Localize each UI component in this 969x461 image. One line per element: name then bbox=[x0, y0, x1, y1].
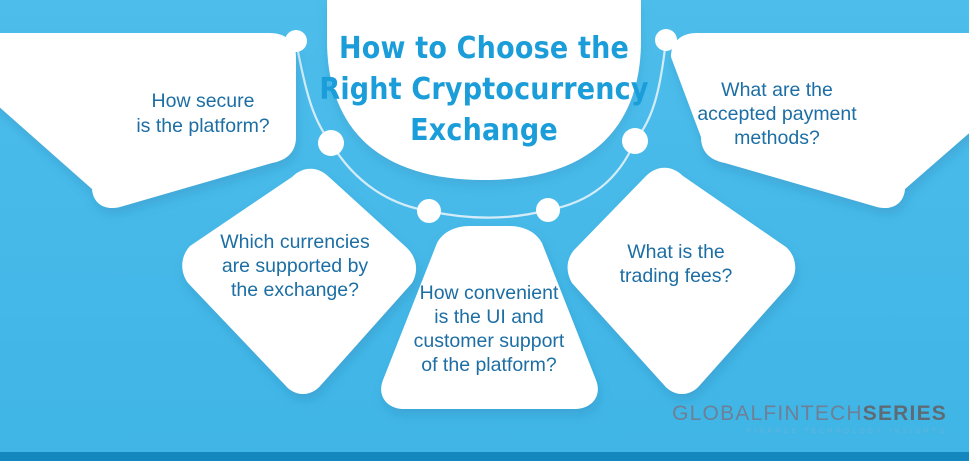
logo-wordmark: GLOBALFINTECHSERIES bbox=[672, 403, 947, 424]
ui-line-1: How convenient bbox=[420, 282, 559, 304]
node-upper-left bbox=[285, 30, 307, 52]
fees-line-2: trading fees? bbox=[620, 265, 733, 287]
ui-line-2: is the UI and bbox=[434, 306, 543, 328]
logo-wordmark-bold: SERIES bbox=[863, 402, 947, 425]
currencies-line-1: Which currencies bbox=[220, 231, 370, 253]
logo-wordmark-light: GLOBALFINTECH bbox=[672, 402, 863, 425]
title-line-2: Right Cryptocurrency bbox=[319, 72, 649, 107]
infographic-artwork: How to Choose the Right Cryptocurrency E… bbox=[0, 0, 969, 461]
ui-line-4: of the platform? bbox=[421, 354, 557, 376]
bottom-accent-bar bbox=[0, 452, 969, 461]
payment-line-1: What are the bbox=[721, 79, 833, 101]
logo-tagline: FINANCE TECHNOLOGY INSIGHTS bbox=[672, 428, 947, 435]
fees-line-1: What is the bbox=[627, 241, 725, 263]
node-lower-right bbox=[536, 198, 560, 222]
payment-line-2: accepted payment bbox=[697, 103, 857, 125]
currencies-line-2: are supported by bbox=[222, 255, 369, 277]
title-line-3: Exchange bbox=[410, 113, 558, 148]
node-lower-left bbox=[417, 199, 441, 223]
node-mid-right bbox=[622, 128, 648, 154]
infographic-canvas: How to Choose the Right Cryptocurrency E… bbox=[0, 0, 969, 461]
node-mid-left bbox=[318, 130, 344, 156]
currencies-line-3: the exchange? bbox=[231, 279, 359, 301]
payment-line-3: methods? bbox=[734, 127, 820, 149]
card-text-currencies: Which currencies are supported by the ex… bbox=[220, 231, 370, 301]
security-line-2: is the platform? bbox=[136, 115, 269, 137]
brand-logo: GLOBALFINTECHSERIES FINANCE TECHNOLOGY I… bbox=[672, 403, 947, 435]
node-upper-right bbox=[655, 29, 677, 51]
ui-line-3: customer support bbox=[414, 330, 565, 352]
title-line-1: How to Choose the bbox=[339, 31, 629, 66]
security-line-1: How secure bbox=[152, 90, 255, 112]
